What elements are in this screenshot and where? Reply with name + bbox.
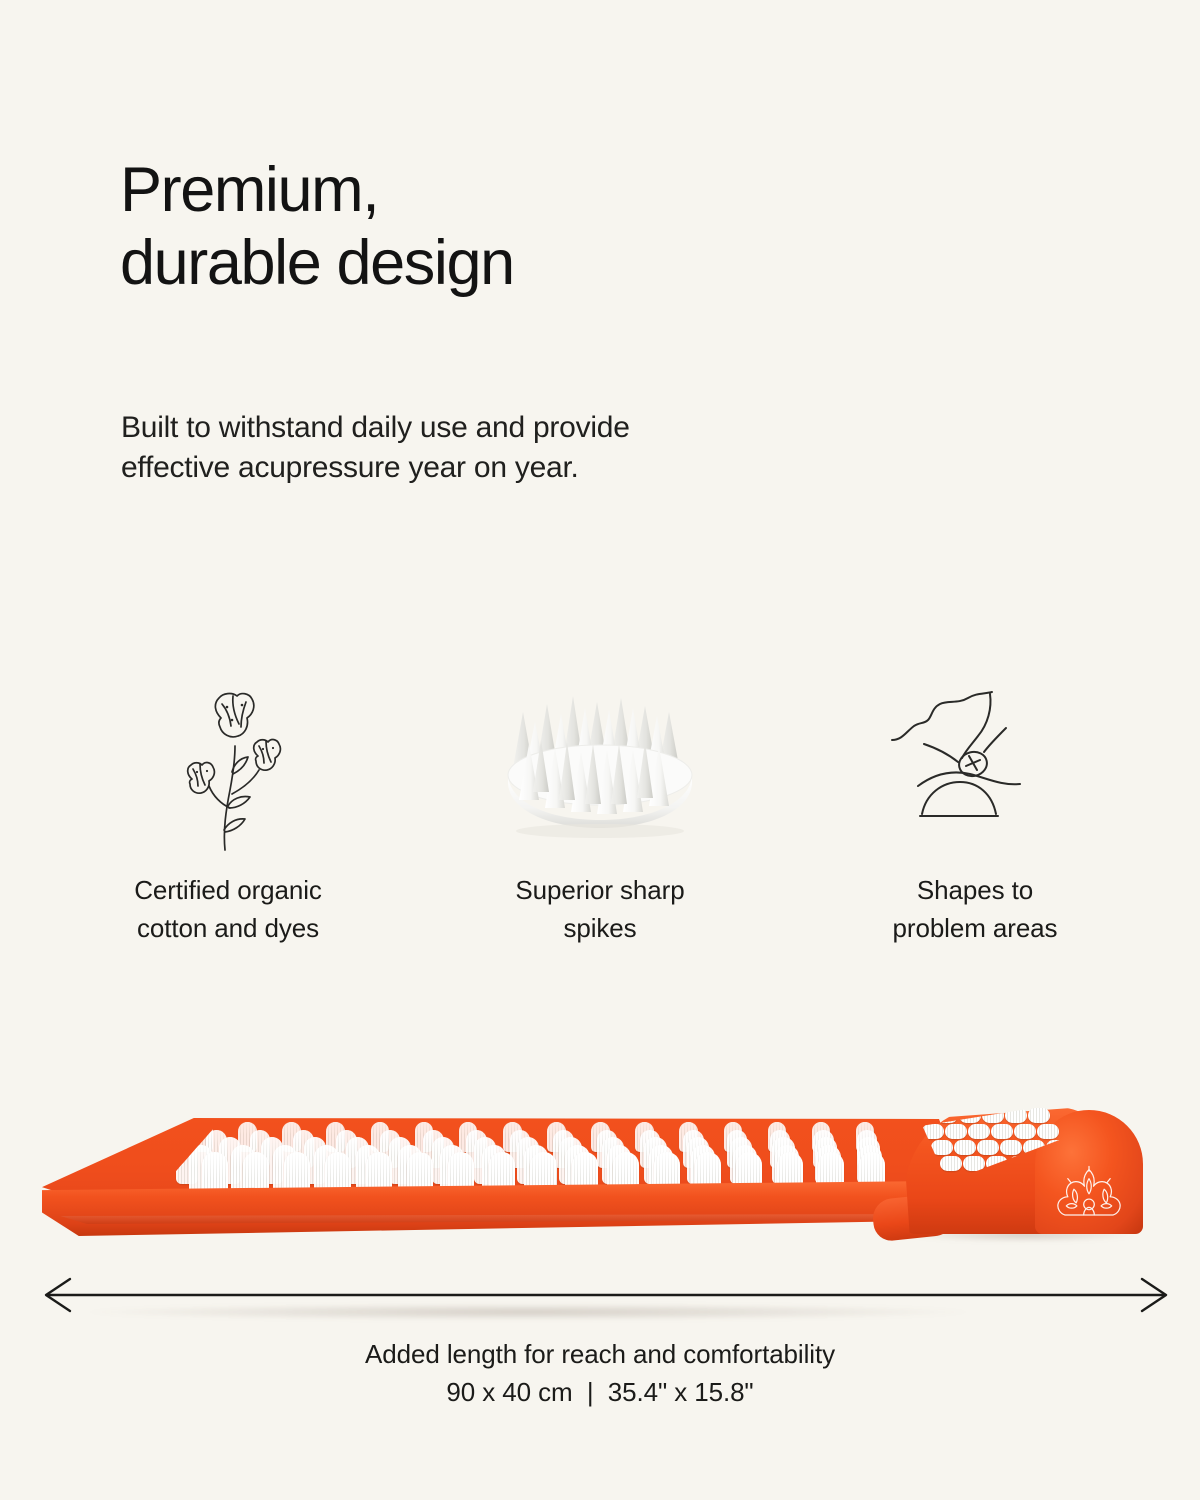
feature-caption-sharp-spikes: Superior sharp spikes	[450, 872, 750, 947]
spike-cluster	[940, 1156, 962, 1171]
dimension-caption-line-2: 90 x 40 cm | 35.4" x 15.8"	[0, 1374, 1200, 1412]
feature-caption-shapes-to-problem-areas: Shapes to problem areas	[825, 872, 1125, 947]
feature-item-shapes-to-problem-areas: Shapes to problem areas	[825, 660, 1125, 980]
page-title: Premium, durable design	[120, 154, 920, 300]
spike-cluster	[1005, 1108, 1027, 1123]
body-on-bolster-icon	[825, 682, 1125, 854]
feature-caption-line-2: spikes	[450, 910, 750, 948]
feature-caption-organic-cotton: Certified organic cotton and dyes	[78, 872, 378, 947]
headline-line-1: Premium,	[120, 154, 920, 227]
mat-body	[42, 1118, 962, 1250]
spike-cluster	[1014, 1124, 1036, 1139]
length-dimension-arrow	[0, 1272, 1200, 1318]
spike-cluster	[1000, 1140, 1022, 1155]
feature-row: Certified organic cotton and dyes	[0, 660, 1200, 980]
dimension-caption: Added length for reach and comfortabilit…	[0, 1336, 1200, 1411]
subheadline-line-2: effective acupressure year on year.	[121, 448, 881, 488]
spike-cluster	[963, 1156, 985, 1171]
spike-cluster	[1037, 1124, 1059, 1139]
spike-cluster	[991, 1124, 1013, 1139]
acupressure-mat	[42, 1118, 962, 1250]
mandala-pattern-icon	[1051, 1162, 1127, 1218]
spike-cluster	[913, 1108, 935, 1123]
dimension-caption-line-1: Added length for reach and comfortabilit…	[0, 1336, 1200, 1374]
feature-caption-line-2: cotton and dyes	[78, 910, 378, 948]
spike-cluster	[977, 1140, 999, 1155]
feature-caption-line-1: Shapes to	[825, 872, 1125, 910]
feature-caption-line-2: problem areas	[825, 910, 1125, 948]
spike-cluster	[945, 1124, 967, 1139]
spike-cluster	[968, 1124, 990, 1139]
page-subtitle: Built to withstand daily use and provide…	[121, 408, 881, 488]
acupressure-pillow	[895, 1088, 1145, 1263]
cotton-flower-icon	[78, 682, 378, 854]
feature-caption-line-1: Certified organic	[78, 872, 378, 910]
spike-cluster	[954, 1140, 976, 1155]
feature-caption-line-1: Superior sharp	[450, 872, 750, 910]
headline-line-2: durable design	[120, 227, 920, 300]
feature-item-sharp-spikes: Superior sharp spikes	[450, 660, 750, 980]
spike-cluster	[1028, 1108, 1050, 1123]
product-photo	[0, 1040, 1200, 1280]
subheadline-line-1: Built to withstand daily use and provide	[121, 408, 881, 448]
product-feature-page: Premium, durable design Built to withsta…	[0, 0, 1200, 1500]
feature-item-organic-cotton: Certified organic cotton and dyes	[78, 660, 378, 980]
spike-disc-icon	[450, 682, 750, 854]
